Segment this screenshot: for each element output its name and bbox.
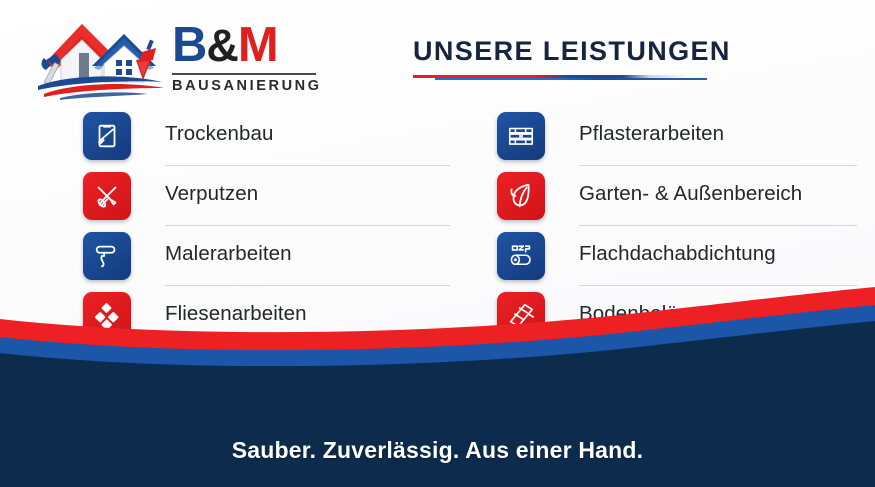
service-item-malerarbeiten[interactable]: Malerarbeiten — [83, 232, 450, 292]
service-item-garten-aussenbereich[interactable]: Garten- & Außenbereich — [497, 172, 857, 232]
service-item-trockenbau[interactable]: Trockenbau — [83, 112, 450, 172]
service-divider — [165, 285, 450, 286]
service-divider — [579, 165, 857, 166]
service-divider — [165, 165, 450, 166]
logo-divider — [172, 73, 316, 75]
drywall-board-icon — [83, 112, 131, 160]
logo-wordmark: B&M BAUSANIERUNG — [172, 20, 322, 98]
crossed-trowels-icon — [83, 172, 131, 220]
page-title-block: UNSERE LEISTUNGEN — [413, 36, 713, 83]
house-hammer-trowel-logo-icon — [30, 8, 170, 100]
service-label: Trockenbau — [165, 112, 274, 156]
logo-letter-m: M — [238, 18, 278, 72]
service-label: Malerarbeiten — [165, 232, 292, 276]
service-divider — [579, 225, 857, 226]
service-item-verputzen[interactable]: Verputzen — [83, 172, 450, 232]
service-divider — [579, 285, 857, 286]
logo-letter-b: B — [172, 18, 206, 72]
paving-bricks-icon — [497, 112, 545, 160]
paint-roller-icon — [83, 232, 131, 280]
footer-tagline: Sauber. Zuverlässig. Aus einer Hand. — [0, 437, 875, 464]
logo-ampersand: & — [206, 20, 238, 71]
page-title: UNSERE LEISTUNGEN — [413, 36, 713, 66]
service-item-pflasterarbeiten[interactable]: Pflasterarbeiten — [497, 112, 857, 172]
membrane-roll-icon — [497, 232, 545, 280]
logo-subtitle: BAUSANIERUNG — [172, 78, 322, 94]
service-label: Garten- & Außenbereich — [579, 172, 802, 216]
service-item-flachdachabdichtung[interactable]: Flachdachabdichtung — [497, 232, 857, 292]
service-label: Verputzen — [165, 172, 258, 216]
leaf-icon — [497, 172, 545, 220]
service-divider — [165, 225, 450, 226]
service-label: Flachdachabdichtung — [579, 232, 776, 276]
title-underline-bar-secondary — [435, 78, 707, 80]
title-underline — [413, 75, 713, 83]
company-logo: B&M BAUSANIERUNG — [30, 8, 305, 100]
service-label: Pflasterarbeiten — [579, 112, 724, 156]
service-overview-slide: B&M BAUSANIERUNG UNSERE LEISTUNGEN Troc — [0, 0, 875, 487]
